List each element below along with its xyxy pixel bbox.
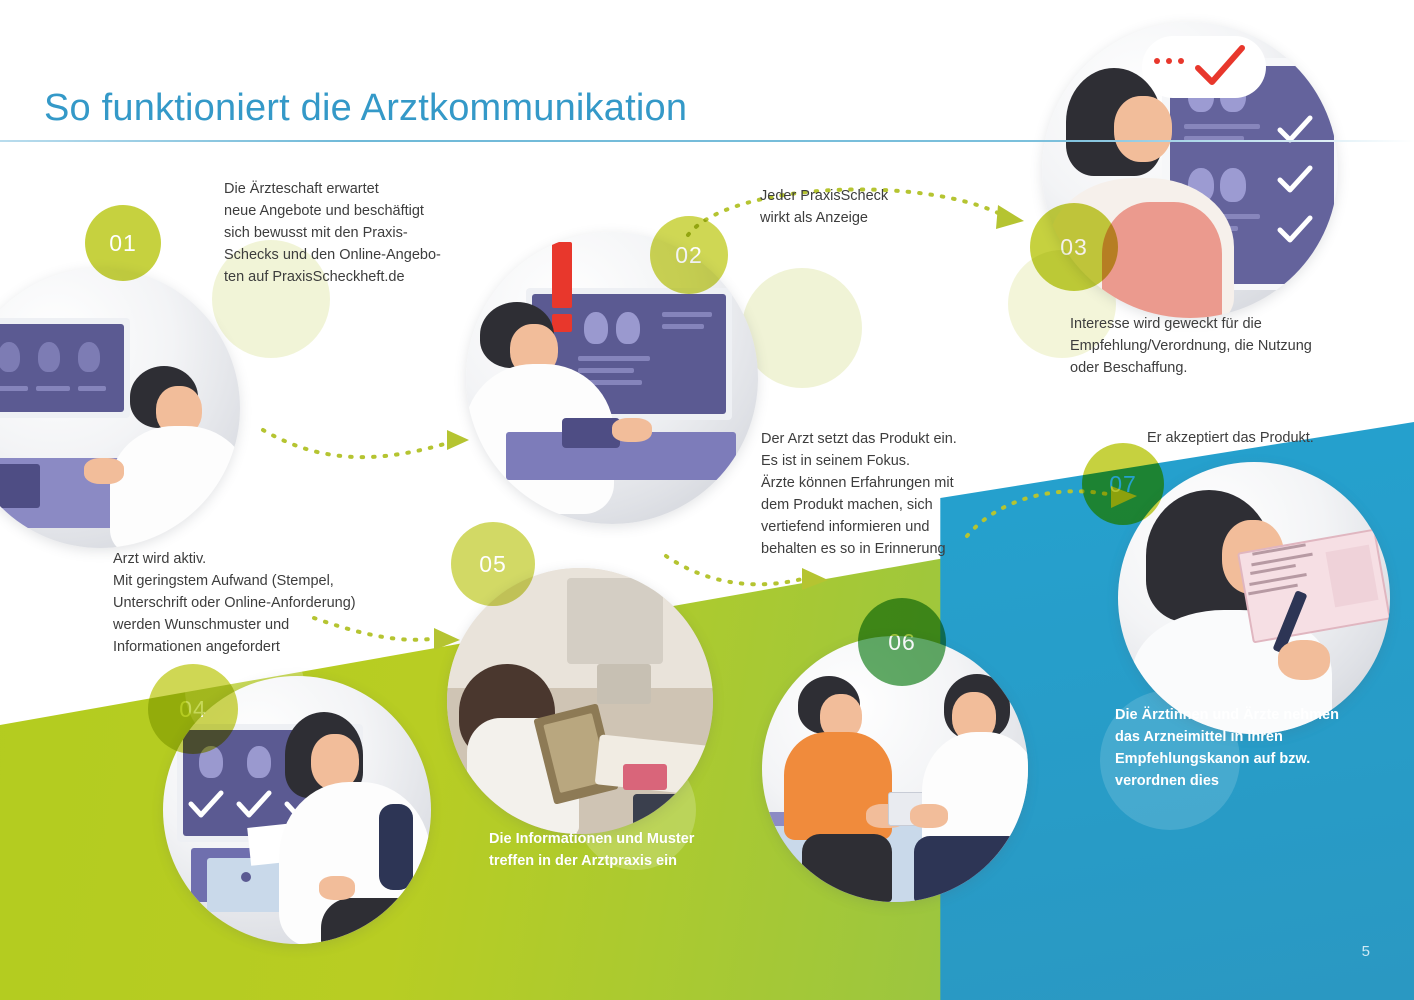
step-7-number: 07: [1109, 471, 1137, 498]
decorative-blob: [742, 268, 862, 388]
step-5-illustration: [447, 568, 713, 834]
checkmark-icon: [235, 788, 275, 822]
step-7-number-badge: 07: [1082, 443, 1164, 525]
step-2-number-badge: 02: [650, 216, 728, 294]
step-4-number: 04: [179, 696, 207, 723]
page-title: So funktioniert die Arztkommunikation: [44, 88, 687, 130]
step-6-number-badge: 06: [858, 598, 946, 686]
exclamation-dot-icon: [552, 314, 572, 332]
step-7-caption: Die Ärztinnen und Ärzte nehmen das Arzne…: [1115, 704, 1405, 792]
step-6-number: 06: [888, 629, 916, 656]
step-3-number: 03: [1060, 234, 1088, 261]
checkmark-icon: [1276, 162, 1316, 198]
page-title-wrap: So funktioniert die Arztkommunikation: [44, 88, 687, 130]
step-5-number-badge: 05: [451, 522, 535, 606]
step-4-caption: Arzt wird aktiv. Mit geringstem Aufwand …: [113, 548, 413, 658]
infographic-canvas: So funktioniert die Arztkommunikation 01…: [0, 0, 1414, 1000]
page-number: 5: [1362, 943, 1370, 960]
step-5-caption: Die Informationen und Muster treffen in …: [489, 828, 739, 872]
step-5-number: 05: [479, 551, 507, 578]
exclamation-mark-icon: [552, 242, 572, 308]
step-7-caption-top: Er akzeptiert das Produkt.: [1147, 427, 1407, 449]
step-1-number-badge: 01: [85, 205, 161, 281]
step-2-number: 02: [675, 242, 703, 269]
step-4-number-badge: 04: [148, 664, 238, 754]
step-1-caption: Die Ärzteschaft erwartet neue Angebote u…: [224, 178, 494, 288]
step-3-caption: Interesse wird geweckt für die Empfehlun…: [1070, 313, 1370, 379]
checkmark-icon: [187, 788, 227, 822]
checkmark-icon: [1192, 42, 1248, 90]
title-divider: [0, 140, 1414, 142]
step-2-caption: Jeder PraxisScheck wirkt als Anzeige: [760, 185, 990, 229]
checkmark-icon: [1276, 212, 1316, 248]
step-6-caption: Der Arzt setzt das Produkt ein. Es ist i…: [761, 428, 1011, 560]
step-1-number: 01: [109, 230, 137, 257]
checkmark-icon: [1276, 112, 1316, 148]
step-3-number-badge: 03: [1030, 203, 1118, 291]
step-1-illustration: [0, 268, 240, 548]
